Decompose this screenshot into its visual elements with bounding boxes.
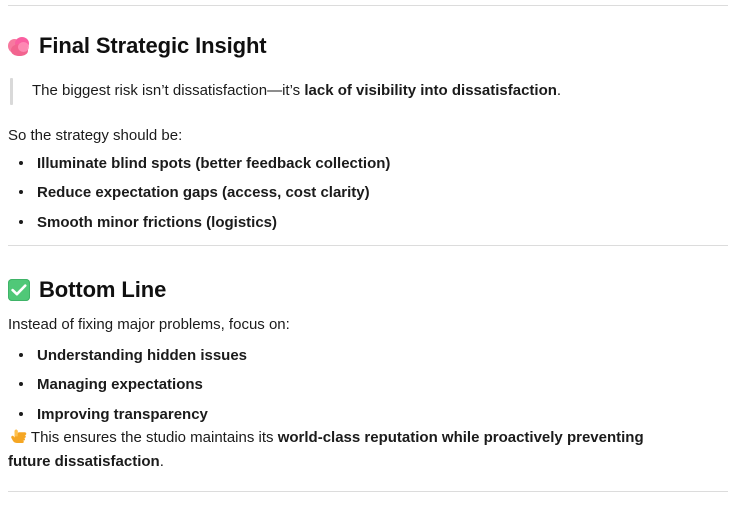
document-page: Final Strategic Insight The biggest risk… <box>0 0 735 506</box>
closing-tail-text: . <box>160 453 164 470</box>
bottom-line-bullet-list: Understanding hidden issues Managing exp… <box>8 344 247 426</box>
strategy-bullet-list: Illuminate blind spots (better feedback … <box>8 152 390 234</box>
pointing-right-hand-icon <box>8 428 27 445</box>
quote-tail-text: . <box>557 82 561 99</box>
list-item: Illuminate blind spots (better feedback … <box>8 152 390 175</box>
bottom-line-intro-text: Instead of fixing major problems, focus … <box>8 313 290 336</box>
brain-icon <box>8 37 30 56</box>
heading-label: Bottom Line <box>39 278 166 302</box>
closing-statement: This ensures the studio maintains its wo… <box>8 426 680 475</box>
list-item: Smooth minor frictions (logistics) <box>8 211 390 234</box>
list-item: Improving transparency <box>8 403 247 426</box>
blockquote-bar <box>10 78 13 105</box>
closing-lead-text: This ensures the studio maintains its <box>31 429 278 446</box>
quote-emphasis-text: lack of visibility into dissatisfaction <box>304 82 557 99</box>
section-heading-final-strategic-insight: Final Strategic Insight <box>8 34 267 58</box>
list-item: Managing expectations <box>8 373 247 396</box>
heading-label: Final Strategic Insight <box>39 34 267 58</box>
list-item: Reduce expectation gaps (access, cost cl… <box>8 181 390 204</box>
section-heading-bottom-line: Bottom Line <box>8 278 166 302</box>
quote-lead-text: The biggest risk isn’t dissatisfaction—i… <box>32 82 304 99</box>
strategy-intro-text: So the strategy should be: <box>8 124 182 147</box>
white-check-mark-icon <box>8 279 30 301</box>
insight-blockquote: The biggest risk isn’t dissatisfaction—i… <box>8 76 732 107</box>
divider-top <box>8 5 728 6</box>
divider-middle <box>8 245 728 246</box>
list-item: Understanding hidden issues <box>8 344 247 367</box>
divider-bottom <box>8 491 728 492</box>
